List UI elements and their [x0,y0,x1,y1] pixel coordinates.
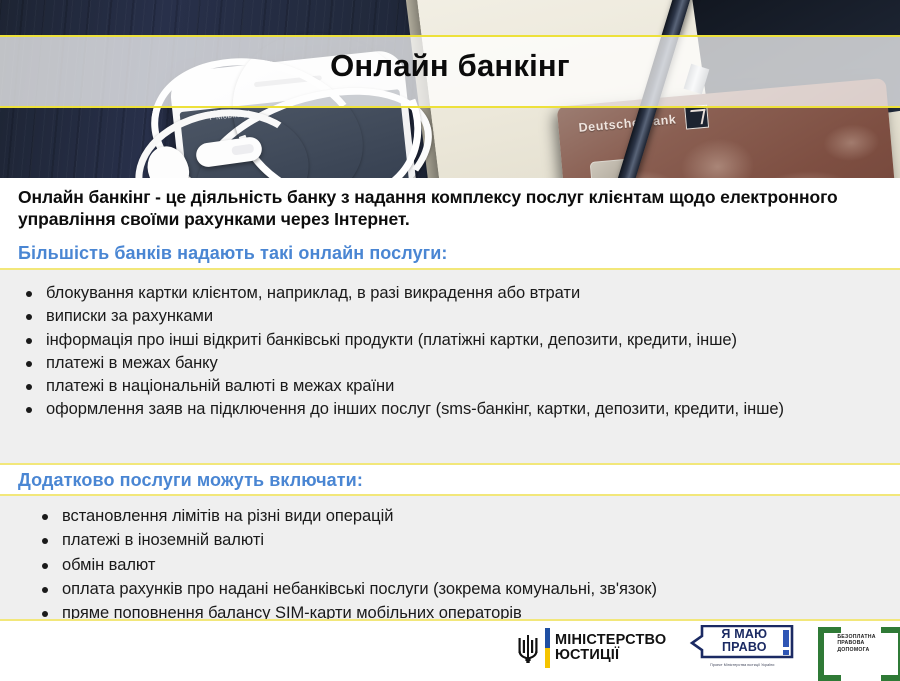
slide: ••••• T-Mobile.pl 10:45 Paused Deutsche … [0,0,900,675]
mp-line-1: Я МАЮ [705,628,783,641]
hero-banner: ••••• T-Mobile.pl 10:45 Paused Deutsche … [0,0,900,178]
list-item: обмін валют [62,555,872,576]
ministry-of-justice-logo: МІНІСТЕРСТВО ЮСТИЦІЇ [516,626,666,670]
list-item: встановлення лімітів на різні види опера… [62,506,872,527]
mp-line-2: ПРАВО [705,641,783,654]
trident-icon [516,633,540,663]
footer-logos: МІНІСТЕРСТВО ЮСТИЦІЇ Я МАЮ ПРАВО Проект … [516,625,900,671]
intro-paragraph: Онлайн банкінг - це діяльність банку з н… [18,186,884,231]
list-item: виписки за рахунками [46,306,866,327]
list-item: оформлення заяв на підключення до інших … [46,399,866,420]
list-item: інформація про інші відкриті банківські … [46,330,866,351]
list-item: блокування картки клієнтом, наприклад, в… [46,283,866,304]
bullet-list-1: блокування картки клієнтом, наприклад, в… [46,283,866,423]
moj-line-1: МІНІСТЕРСТВО [555,633,666,648]
ya-mayu-pravo-label: Я МАЮ ПРАВО [705,628,783,653]
section-heading-1: Більшість банків надають такі онлайн пос… [18,243,448,264]
list-item: платежі в межах банку [46,353,866,374]
list-item: платежі в іноземній валюті [62,530,872,551]
ya-mayu-pravo-logo: Я МАЮ ПРАВО Проект Міністерства юстиції … [688,625,796,671]
list-item: оплата рахунків про надані небанківські … [62,579,872,600]
footer: МІНІСТЕРСТВО ЮСТИЦІЇ Я МАЮ ПРАВО Проект … [0,621,900,675]
page-title: Онлайн банкінг [0,48,900,84]
ya-mayu-pravo-caption: Проект Міністерства юстиції України [688,663,796,667]
list-item: платежі в національній валюті в межах кр… [46,376,866,397]
bullet-list-2: встановлення лімітів на різні види опера… [62,506,872,627]
section-heading-2: Додатково послуги можуть включати: [18,470,363,491]
ukraine-flag-bar-icon [545,628,550,668]
deutsche-bank-logo-icon [684,105,709,130]
ministry-of-justice-label: МІНІСТЕРСТВО ЮСТИЦІЇ [555,633,666,663]
free-legal-aid-label: БЕЗОПЛАТНА ПРАВОВА ДОПОМОГА [837,634,885,653]
moj-line-2: ЮСТИЦІЇ [555,648,666,663]
divider-rule [0,463,900,465]
bpd-line-3: ДОПОМОГА [837,647,885,653]
free-legal-aid-logo: БЕЗОПЛАТНА ПРАВОВА ДОПОМОГА [818,627,900,669]
